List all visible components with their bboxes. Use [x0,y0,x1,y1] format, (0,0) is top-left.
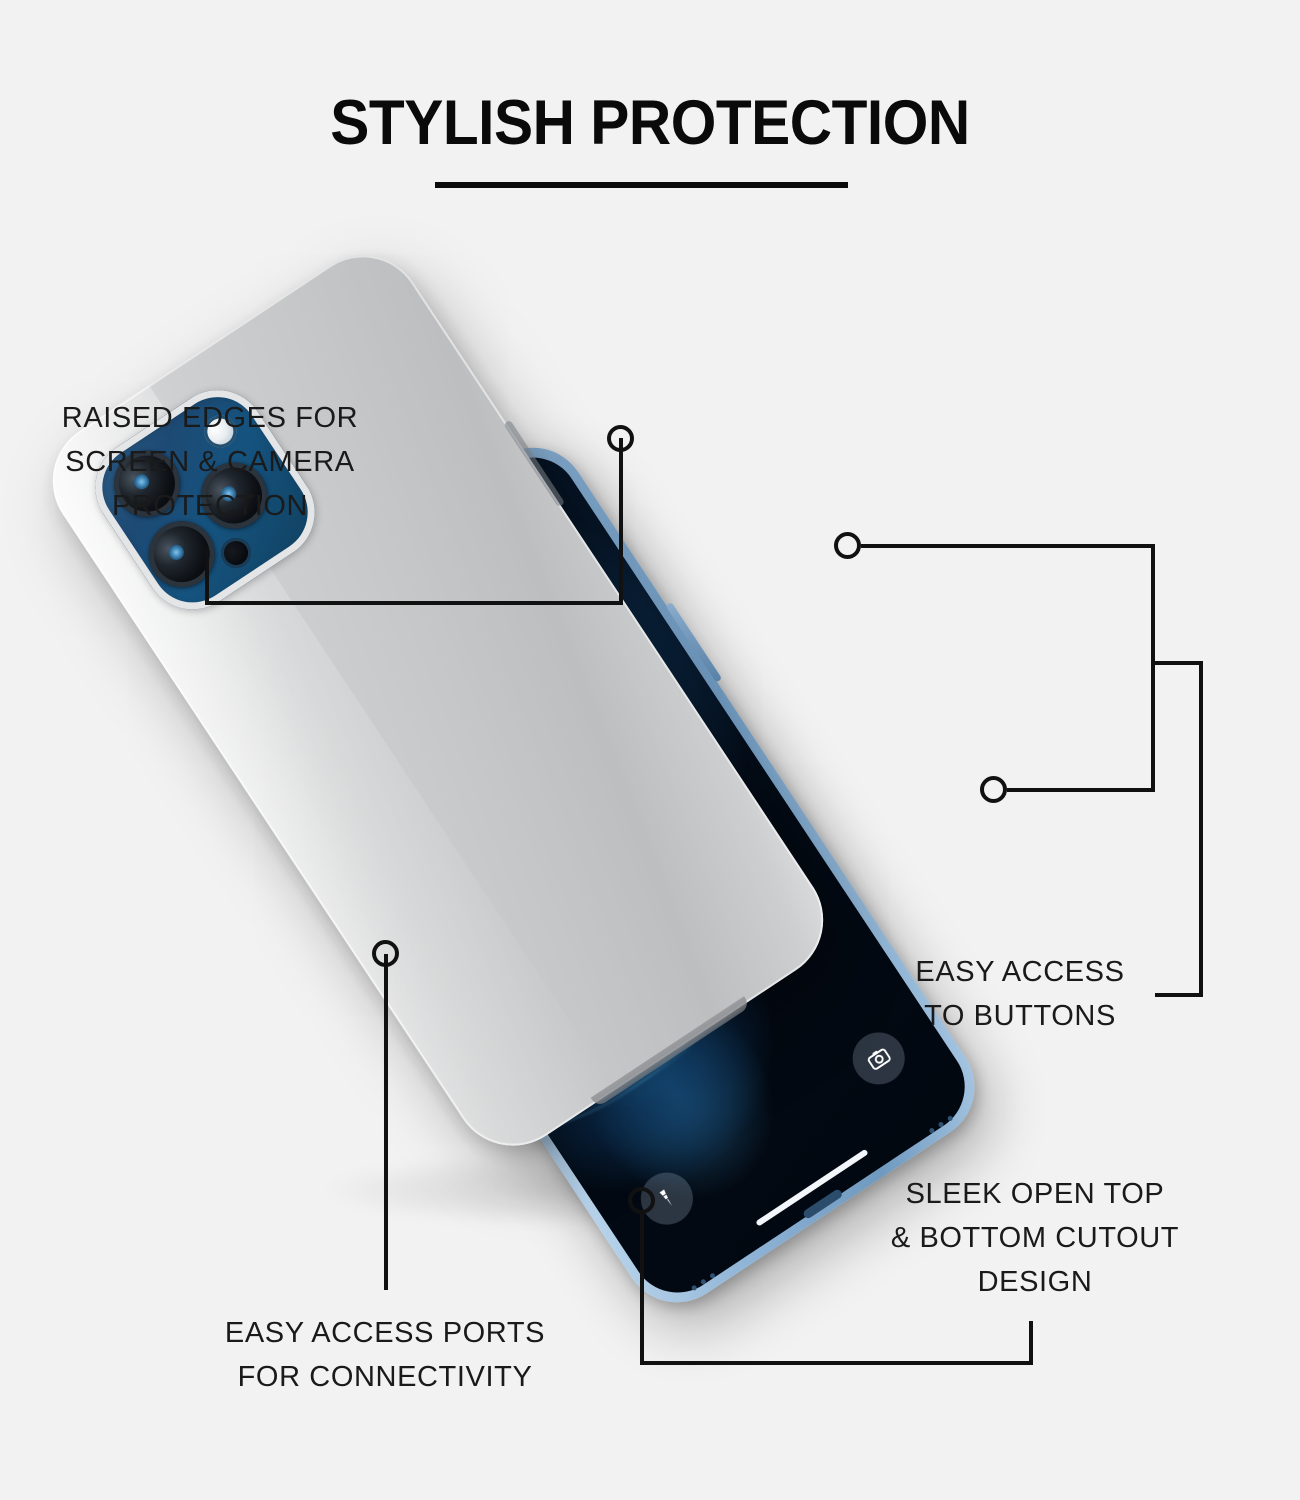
callout-raised-edges: RAISED EDGES FOR SCREEN & CAMERA PROTECT… [20,396,400,528]
callout-line: SLEEK OPEN TOP [880,1172,1190,1216]
callout-line: DESIGN [880,1260,1190,1304]
callout-line: SCREEN & CAMERA [20,440,400,484]
callout-line: EASY ACCESS PORTS [185,1311,585,1355]
callout-access-ports: EASY ACCESS PORTS FOR CONNECTIVITY [185,1311,585,1399]
marker-camera-cutout [607,425,634,452]
callout-easy-access-buttons: EASY ACCESS TO BUTTONS [880,950,1160,1038]
lidar-sensor-icon [215,532,257,574]
infographic-canvas: STYLISH PROTECTION [0,0,1300,1500]
marker-port-cutout [372,940,399,967]
callout-line: FOR CONNECTIVITY [185,1355,585,1399]
marker-top-cutout [834,532,861,559]
callout-line: PROTECTION [20,484,400,528]
callout-sleek-cutout: SLEEK OPEN TOP & BOTTOM CUTOUT DESIGN [880,1172,1190,1304]
callout-line: EASY ACCESS [880,950,1160,994]
callout-line: TO BUTTONS [880,994,1160,1038]
marker-side-button [980,776,1007,803]
callout-line: RAISED EDGES FOR [20,396,400,440]
marker-bottom-cutout [628,1187,655,1214]
callout-line: & BOTTOM CUTOUT [880,1216,1190,1260]
